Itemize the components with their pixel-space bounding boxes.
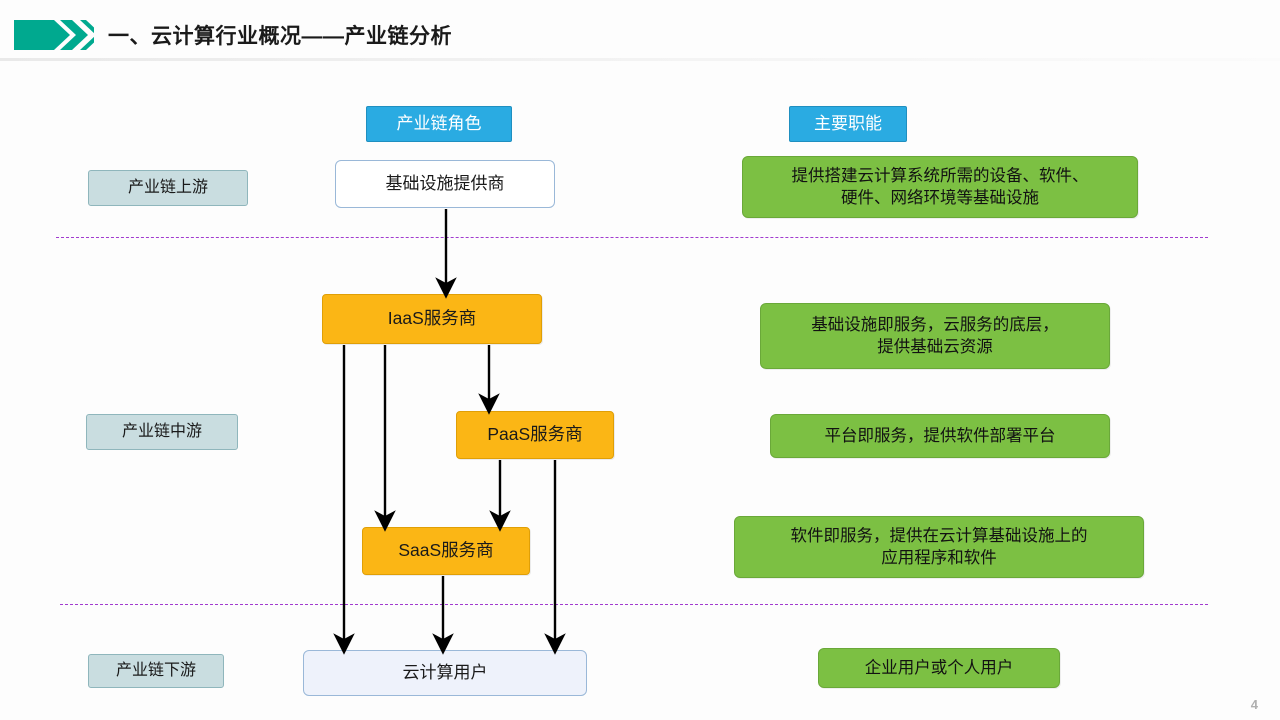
slide-header: 一、云计算行业概况——产业链分析 (0, 14, 1280, 58)
page-title: 一、云计算行业概况——产业链分析 (108, 20, 452, 50)
role-box-cloud-users[interactable]: 云计算用户 (303, 650, 587, 696)
duty-box-saas: 软件即服务，提供在云计算基础设施上的 应用程序和软件 (734, 516, 1144, 578)
role-box-iaas-provider[interactable]: IaaS服务商 (322, 294, 542, 344)
duty-box-infrastructure: 提供搭建云计算系统所需的设备、软件、 硬件、网络环境等基础设施 (742, 156, 1138, 218)
role-box-saas-provider[interactable]: SaaS服务商 (362, 527, 530, 575)
duty-line-1: 基础设施即服务，云服务的底层， (811, 314, 1059, 336)
stage-label-upstream: 产业链上游 (88, 170, 248, 206)
separator-upstream-midstream (56, 237, 1208, 238)
separator-midstream-downstream (60, 604, 1208, 605)
duty-line-2: 提供基础云资源 (877, 336, 993, 358)
duty-line-2: 硬件、网络环境等基础设施 (841, 187, 1039, 209)
duty-box-paas: 平台即服务，提供软件部署平台 (770, 414, 1110, 458)
double-chevron-right-icon (14, 18, 94, 52)
duty-line-1: 提供搭建云计算系统所需的设备、软件、 (792, 165, 1089, 187)
duty-box-iaas: 基础设施即服务，云服务的底层， 提供基础云资源 (760, 303, 1110, 369)
page-number: 4 (1251, 697, 1258, 712)
duty-line-1: 软件即服务，提供在云计算基础设施上的 (791, 525, 1088, 547)
stage-label-midstream: 产业链中游 (86, 414, 238, 450)
column-header-role: 产业链角色 (366, 106, 512, 142)
role-box-paas-provider[interactable]: PaaS服务商 (456, 411, 614, 459)
header-divider (0, 58, 1280, 61)
duty-line-2: 应用程序和软件 (881, 547, 997, 569)
slide-canvas: 一、云计算行业概况——产业链分析 产业链角色 主要职能 产业链上游 产业链中游 … (0, 0, 1280, 720)
role-box-infrastructure-provider[interactable]: 基础设施提供商 (335, 160, 555, 208)
column-header-duty: 主要职能 (789, 106, 907, 142)
stage-label-downstream: 产业链下游 (88, 654, 224, 688)
duty-box-end-user: 企业用户或个人用户 (818, 648, 1060, 688)
